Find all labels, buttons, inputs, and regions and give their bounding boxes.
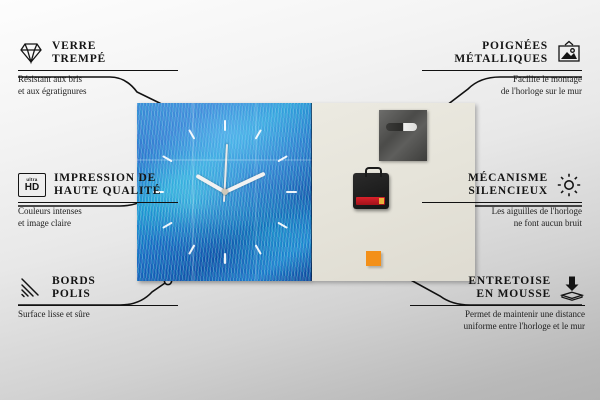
clock-tick [188, 129, 195, 140]
callout-sub-line1: Les aiguilles de l'horloge [422, 206, 582, 218]
callout-title-line2: SILENCIEUX [468, 185, 548, 197]
clock-hour-hand [195, 174, 226, 194]
callout-sub-line1: Surface lisse et sûre [18, 309, 178, 321]
movement-hook [365, 167, 382, 177]
callout-sub-line1: Couleurs intenses [18, 206, 178, 218]
callout-rule [18, 70, 178, 71]
callout-title-line1: ENTRETOISE [468, 275, 551, 287]
callout-title-line1: MÉCANISME [468, 172, 548, 184]
clock-tick [254, 244, 261, 255]
diamond-icon [18, 40, 44, 66]
callout-title-line2: TREMPÉ [52, 53, 106, 65]
gear-icon [556, 172, 582, 198]
clock-tick [254, 129, 261, 140]
callout-title-line1: BORDS [52, 275, 96, 287]
callout-sub-line1: Résistant aux bris [18, 74, 178, 86]
callout-entretoise-en-mousse[interactable]: ENTRETOISE EN MOUSSE Permet de maintenir… [410, 275, 585, 332]
clock-tick [277, 155, 288, 162]
clock-movement [353, 173, 389, 209]
ultra-hd-icon: ultra HD [18, 173, 46, 197]
callout-sub-line1: Facilite le montage [422, 74, 582, 86]
callout-mecanisme-silencieux[interactable]: MÉCANISME SILENCIEUX Les aiguilles de l'… [422, 172, 582, 229]
foam-spacer-icon [559, 275, 585, 301]
hanger-keyhole-slot [386, 123, 417, 131]
foam-spacer [366, 251, 381, 266]
clock-tick [286, 191, 297, 193]
clock-tick [224, 253, 226, 264]
clock-tick [224, 120, 226, 131]
clock-tick [277, 222, 288, 229]
picture-hanger-icon [556, 40, 582, 66]
polished-edges-icon [18, 275, 44, 301]
callout-rule [422, 70, 582, 71]
callout-bords-polis[interactable]: BORDS POLIS Surface lisse et sûre [18, 275, 178, 321]
callout-impression-haute-qualite[interactable]: ultra HD IMPRESSION DE HAUTE QUALITÉ Cou… [18, 172, 178, 229]
callout-sub-line2: et image claire [18, 218, 178, 230]
callout-rule [410, 305, 585, 306]
clock-tick [188, 244, 195, 255]
callout-sub-line2: de l'horloge sur le mur [422, 86, 582, 98]
callout-verre-trempe[interactable]: VERRE TREMPÉ Résistant aux bris et aux é… [18, 40, 178, 97]
callout-title-line1: IMPRESSION DE [54, 172, 156, 184]
callout-rule [422, 202, 582, 203]
callout-sub-line2: ne font aucun bruit [422, 218, 582, 230]
callout-rule [18, 202, 178, 203]
clock-hand-hub [222, 189, 228, 195]
callout-sub-line2: uniforme entre l'horloge et le mur [410, 321, 585, 333]
clock-minute-hand [224, 172, 266, 194]
metal-hanger-plate [379, 110, 427, 161]
callout-title-line2: MÉTALLIQUES [454, 53, 548, 65]
callout-rule [18, 305, 178, 306]
hd-icon-large-label: HD [25, 183, 39, 193]
callout-title-line1: POIGNÉES [482, 40, 548, 52]
callout-title-line1: VERRE [52, 40, 96, 52]
callout-poignees-metalliques[interactable]: POIGNÉES MÉTALLIQUES Facilite le montage… [422, 40, 582, 97]
callout-sub-line1: Permet de maintenir une distance [410, 309, 585, 321]
clock-second-hand [223, 144, 228, 202]
callout-title-line2: HAUTE QUALITÉ [54, 185, 161, 197]
clock-tick [162, 155, 173, 162]
callout-title-line2: EN MOUSSE [476, 288, 551, 300]
callout-sub-line2: et aux égratignures [18, 86, 178, 98]
battery [356, 197, 385, 205]
callout-title-line2: POLIS [52, 288, 91, 300]
infographic-stage: VERRE TREMPÉ Résistant aux bris et aux é… [0, 0, 600, 400]
